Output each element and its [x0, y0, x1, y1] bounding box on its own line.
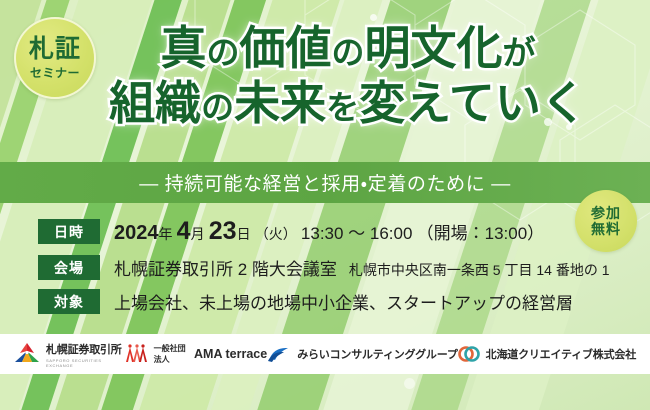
info-value-target: 上場会社、未上場の地場中小企業、スタートアップの経営層	[114, 289, 573, 314]
bg-dot	[370, 14, 377, 21]
logo-name: 北海道クリエイティブ株式会社	[486, 346, 636, 362]
title-seg: 真	[161, 22, 207, 74]
logo-mirai-consulting: みらいコンサルティンググループ	[267, 344, 457, 364]
logo-romaji: SAPPORO SECURITIES EXCHANGE	[46, 358, 122, 368]
info-value-venue: 札幌証券取引所 2 階大会議室札幌市中央区南一条西 5 丁目 14 番地の 1	[114, 255, 610, 280]
logo-name: AMA terrace	[194, 347, 267, 361]
title-line-1: 真の価値の明文化が	[46, 24, 650, 73]
title-seg: 価値	[240, 22, 332, 74]
info-label-date: 日時	[38, 219, 100, 244]
venue-address: 札幌市中央区南一条西 5 丁目 14 番地の 1	[349, 262, 610, 278]
logo-text-wrap: 札幌証券取引所 SAPPORO SECURITIES EXCHANGE	[46, 341, 122, 368]
sponsor-logo-bar: 札幌証券取引所 SAPPORO SECURITIES EXCHANGE 一般社団…	[0, 334, 650, 374]
free-participation-badge: 参加 無料	[575, 190, 637, 252]
free-badge-line-1: 参加	[591, 205, 621, 221]
info-label-venue: 会場	[38, 255, 100, 280]
sapporo-stock-exchange-star-icon	[14, 342, 40, 366]
subtitle-text: ― 持続可能な経営と採用・定着のために ―	[139, 169, 511, 196]
date-day: 23	[209, 217, 237, 245]
bg-dot	[404, 378, 415, 389]
title-seg: 変えていく	[359, 77, 587, 129]
title-seg: を	[326, 89, 359, 126]
info-table: 日時 2024年 4月 23日 （火） 13:30 〜 16:00 （開場：13…	[38, 217, 610, 314]
seminar-banner: 札証 セミナー 真の価値の明文化が 組織の未来を変えていく ― 持続可能な経営と…	[0, 0, 650, 410]
logo-prefix: 一般社団法人	[154, 343, 188, 365]
title-line-2: 組織の未来を変えていく	[46, 79, 650, 128]
info-row-date: 日時 2024年 4月 23日 （火） 13:30 〜 16:00 （開場：13…	[38, 217, 610, 246]
date-year: 2024	[114, 222, 159, 244]
date-year-unit: 年	[159, 226, 173, 242]
title-seg: の	[332, 34, 365, 71]
info-value-date: 2024年 4月 23日 （火） 13:30 〜 16:00 （開場：13:00…	[114, 217, 544, 246]
date-weekday: （火）	[255, 226, 297, 242]
mirai-consulting-swoosh-icon	[267, 344, 291, 364]
ama-terrace-triple-a-icon	[122, 344, 148, 364]
subtitle-band: ― 持続可能な経営と採用・定着のために ―	[0, 162, 650, 203]
logo-name: みらいコンサルティンググループ	[297, 346, 457, 362]
title-seg: 明文化	[365, 22, 503, 74]
free-badge-line-2: 無料	[591, 221, 621, 237]
date-time: 13:30 〜 16:00	[301, 224, 413, 243]
date-open-time: （開場：13:00）	[417, 224, 545, 243]
logo-hokkaido-creative: 北海道クリエイティブ株式会社	[458, 344, 636, 364]
target-value: 上場会社、未上場の地場中小企業、スタートアップの経営層	[114, 294, 573, 313]
hokkaido-creative-circle-icon	[458, 344, 480, 364]
logo-name: 札幌証券取引所	[46, 341, 122, 357]
venue-name: 札幌証券取引所 2 階大会議室	[114, 260, 337, 279]
title-seg: 組織	[109, 77, 201, 129]
logo-sapporo-stock-exchange: 札幌証券取引所 SAPPORO SECURITIES EXCHANGE	[14, 341, 122, 368]
date-month: 4	[177, 217, 191, 245]
date-month-unit: 月	[191, 226, 205, 242]
main-title: 真の価値の明文化が 組織の未来を変えていく	[0, 24, 650, 128]
title-seg: が	[503, 34, 536, 71]
info-label-target: 対象	[38, 289, 100, 314]
info-row-target: 対象 上場会社、未上場の地場中小企業、スタートアップの経営層	[38, 289, 610, 314]
title-seg: 未来	[234, 77, 326, 129]
title-seg: の	[201, 89, 234, 126]
date-day-unit: 日	[237, 226, 251, 242]
info-row-venue: 会場 札幌証券取引所 2 階大会議室札幌市中央区南一条西 5 丁目 14 番地の…	[38, 255, 610, 280]
logo-ama-terrace: 一般社団法人 AMA terrace	[122, 343, 268, 365]
title-seg: の	[207, 34, 240, 71]
